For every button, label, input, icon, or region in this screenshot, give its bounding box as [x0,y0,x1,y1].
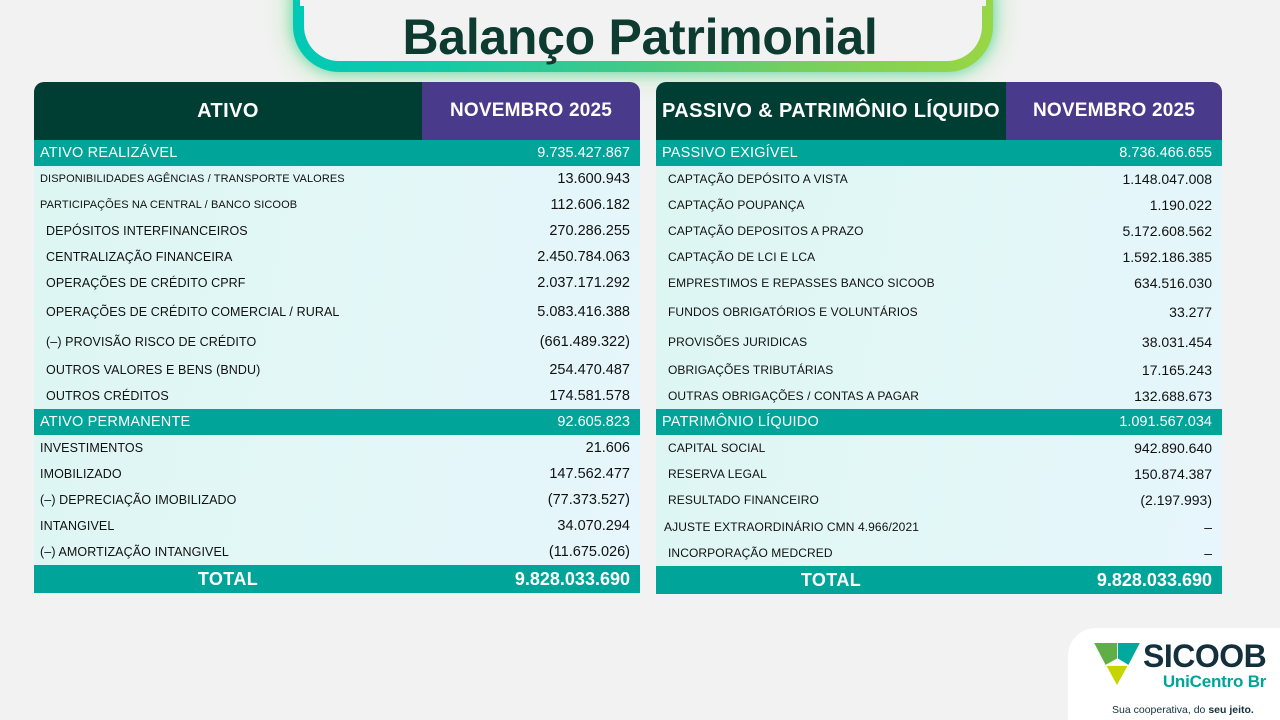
row-label: CAPTAÇÃO DE LCI E LCA [656,250,1006,264]
row-value: 147.562.477 [422,466,640,482]
row-value: 21.606 [422,440,640,456]
table-row: PROVISÕES JURIDICAS38.031.454 [656,327,1222,357]
row-label: OBRIGAÇÕES TRIBUTÁRIAS [656,363,1006,377]
row-label: (–) PROVISÃO RISCO DE CRÉDITO [34,335,422,349]
row-label: CAPTAÇÃO DEPÓSITO A VISTA [656,172,1006,186]
row-value: 2.450.784.063 [422,249,640,265]
liabilities-total-label: TOTAL [656,570,1006,591]
row-label: INVESTIMENTOS [34,441,422,455]
row-label: DEPÓSITOS INTERFINANCEIROS [34,224,422,238]
sicoob-unit-name: UniCentro Br [1143,672,1266,691]
row-value: 17.165.243 [1006,362,1222,378]
table-row: OUTROS VALORES E BENS (BNDU)254.470.487 [34,357,640,383]
table-row: (–) DEPRECIAÇÃO IMOBILIZADO(77.373.527) [34,487,640,513]
table-row: RESERVA LEGAL150.874.387 [656,461,1222,487]
row-value: 174.581.578 [422,388,640,404]
row-label: (–) DEPRECIAÇÃO IMOBILIZADO [34,493,422,507]
table-row: RESULTADO FINANCEIRO(2.197.993) [656,487,1222,513]
row-value: 33.277 [1006,304,1222,320]
row-value: 132.688.673 [1006,388,1222,404]
balance-sheet-board: ATIVO NOVEMBRO 2025 ATIVO REALIZÁVEL9.73… [0,82,1280,622]
assets-total-value: 9.828.033.690 [422,569,640,590]
table-row: OUTRAS OBRIGAÇÕES / CONTAS A PAGAR132.68… [656,383,1222,409]
sicoob-logo-card: SICOOB UniCentro Br Sua cooperativa, do … [1068,628,1280,720]
row-label: (–) AMORTIZAÇÃO INTANGIVEL [34,545,422,559]
section-label: PASSIVO EXIGÍVEL [656,145,1006,161]
assets-table: ATIVO NOVEMBRO 2025 ATIVO REALIZÁVEL9.73… [34,82,640,593]
row-value: 150.874.387 [1006,466,1222,482]
table-row: DISPONIBILIDADES AGÊNCIAS / TRANSPORTE V… [34,166,640,192]
row-label: OPERAÇÕES DE CRÉDITO CPRF [34,276,422,290]
section-value: 92.605.823 [422,414,640,430]
table-row: (–) AMORTIZAÇÃO INTANGIVEL(11.675.026) [34,539,640,565]
row-value: 270.286.255 [422,223,640,239]
section-row: PATRIMÔNIO LÍQUIDO1.091.567.034 [656,409,1222,435]
row-value: – [1006,519,1222,535]
assets-total-row: TOTAL 9.828.033.690 [34,565,640,593]
row-label: DISPONIBILIDADES AGÊNCIAS / TRANSPORTE V… [34,173,422,185]
row-value: 1.148.047.008 [1006,171,1222,187]
page-title: Balanço Patrimonial [0,2,1280,72]
sicoob-tagline: Sua cooperativa, do seu jeito. [1112,704,1254,716]
row-value: 1.190.022 [1006,197,1222,213]
table-row: EMPRESTIMOS E REPASSES BANCO SICOOB634.5… [656,270,1222,296]
row-label: INCORPORAÇÃO MEDCRED [656,546,1006,560]
row-value: 1.592.186.385 [1006,249,1222,265]
table-row: INVESTIMENTOS21.606 [34,435,640,461]
row-value: (11.675.026) [422,544,640,560]
liabilities-total-row: TOTAL 9.828.033.690 [656,566,1222,594]
liabilities-header-period: NOVEMBRO 2025 [1006,82,1222,140]
tagline-bold: seu jeito. [1208,704,1254,716]
table-row: PARTICIPAÇÕES NA CENTRAL / BANCO SICOOB1… [34,192,640,218]
row-label: OPERAÇÕES DE CRÉDITO COMERCIAL / RURAL [34,305,422,319]
liabilities-header-label: PASSIVO & PATRIMÔNIO LÍQUIDO [656,82,1006,140]
table-row: CAPITAL SOCIAL942.890.640 [656,435,1222,461]
table-row: (–) PROVISÃO RISCO DE CRÉDITO(661.489.32… [34,327,640,357]
row-label: CAPTAÇÃO DEPOSITOS A PRAZO [656,224,1006,238]
table-row: CAPTAÇÃO DEPÓSITO A VISTA1.148.047.008 [656,166,1222,192]
row-label: PARTICIPAÇÕES NA CENTRAL / BANCO SICOOB [34,199,422,211]
section-label: ATIVO PERMANENTE [34,414,422,430]
section-row: ATIVO PERMANENTE92.605.823 [34,409,640,435]
assets-table-body: ATIVO REALIZÁVEL9.735.427.867DISPONIBILI… [34,140,640,565]
row-label: RESULTADO FINANCEIRO [656,493,1006,507]
table-row: OPERAÇÕES DE CRÉDITO CPRF2.037.171.292 [34,270,640,296]
row-label: CAPITAL SOCIAL [656,441,1006,455]
assets-header-label: ATIVO [34,82,422,140]
assets-total-label: TOTAL [34,569,422,590]
title-banner: Balanço Patrimonial [0,0,1280,80]
sicoob-logo: SICOOB UniCentro Br Sua cooperativa, do … [1094,640,1266,691]
row-value: 5.172.608.562 [1006,223,1222,239]
table-row: FUNDOS OBRIGATÓRIOS E VOLUNTÁRIOS33.277 [656,296,1222,327]
row-value: 5.083.416.388 [422,304,640,320]
table-row: INTANGIVEL34.070.294 [34,513,640,539]
row-value: 2.037.171.292 [422,275,640,291]
row-value: 112.606.182 [422,197,640,213]
assets-table-header: ATIVO NOVEMBRO 2025 [34,82,640,140]
liabilities-table-body: PASSIVO EXIGÍVEL8.736.466.655CAPTAÇÃO DE… [656,140,1222,566]
section-row: PASSIVO EXIGÍVEL8.736.466.655 [656,140,1222,166]
row-label: RESERVA LEGAL [656,467,1006,481]
liabilities-table-header: PASSIVO & PATRIMÔNIO LÍQUIDO NOVEMBRO 20… [656,82,1222,140]
liabilities-table: PASSIVO & PATRIMÔNIO LÍQUIDO NOVEMBRO 20… [656,82,1222,594]
table-row: OUTROS CRÉDITOS174.581.578 [34,383,640,409]
row-value: 34.070.294 [422,518,640,534]
row-label: EMPRESTIMOS E REPASSES BANCO SICOOB [656,276,1006,290]
row-label: PROVISÕES JURIDICAS [656,335,1006,349]
section-label: ATIVO REALIZÁVEL [34,145,422,161]
table-row: IMOBILIZADO147.562.477 [34,461,640,487]
row-value: 13.600.943 [422,171,640,187]
section-value: 1.091.567.034 [1006,414,1222,430]
row-value: 254.470.487 [422,362,640,378]
section-label: PATRIMÔNIO LÍQUIDO [656,414,1006,430]
table-row: INCORPORAÇÃO MEDCRED– [656,540,1222,566]
row-value: (661.489.322) [422,334,640,350]
section-value: 9.735.427.867 [422,145,640,161]
row-label: INTANGIVEL [34,519,422,533]
table-row: CAPTAÇÃO POUPANÇA1.190.022 [656,192,1222,218]
table-row: DEPÓSITOS INTERFINANCEIROS270.286.255 [34,218,640,244]
liabilities-total-value: 9.828.033.690 [1006,570,1222,591]
row-value: (2.197.993) [1006,492,1222,508]
sicoob-wordmark: SICOOB [1143,640,1266,672]
row-label: IMOBILIZADO [34,467,422,481]
row-label: OUTROS CRÉDITOS [34,389,422,403]
tagline-prefix: Sua cooperativa, do [1112,704,1208,716]
row-label: OUTROS VALORES E BENS (BNDU) [34,363,422,377]
table-row: CAPTAÇÃO DEPOSITOS A PRAZO5.172.608.562 [656,218,1222,244]
row-label: CENTRALIZAÇÃO FINANCEIRA [34,250,422,264]
section-row: ATIVO REALIZÁVEL9.735.427.867 [34,140,640,166]
section-value: 8.736.466.655 [1006,145,1222,161]
row-label: CAPTAÇÃO POUPANÇA [656,198,1006,212]
row-label: FUNDOS OBRIGATÓRIOS E VOLUNTÁRIOS [656,305,1006,319]
table-row: OBRIGAÇÕES TRIBUTÁRIAS17.165.243 [656,357,1222,383]
row-value: (77.373.527) [422,492,640,508]
sicoob-triangle-icon [1094,643,1140,685]
row-value: 38.031.454 [1006,334,1222,350]
row-label: OUTRAS OBRIGAÇÕES / CONTAS A PAGAR [656,389,1006,403]
row-label: AJUSTE EXTRAORDINÁRIO CMN 4.966/2021 [656,520,1006,534]
table-row: OPERAÇÕES DE CRÉDITO COMERCIAL / RURAL5.… [34,296,640,327]
row-value: – [1006,545,1222,561]
table-row: AJUSTE EXTRAORDINÁRIO CMN 4.966/2021– [656,513,1222,540]
table-row: CAPTAÇÃO DE LCI E LCA1.592.186.385 [656,244,1222,270]
assets-header-period: NOVEMBRO 2025 [422,82,640,140]
table-row: CENTRALIZAÇÃO FINANCEIRA2.450.784.063 [34,244,640,270]
row-value: 634.516.030 [1006,275,1222,291]
row-value: 942.890.640 [1006,440,1222,456]
